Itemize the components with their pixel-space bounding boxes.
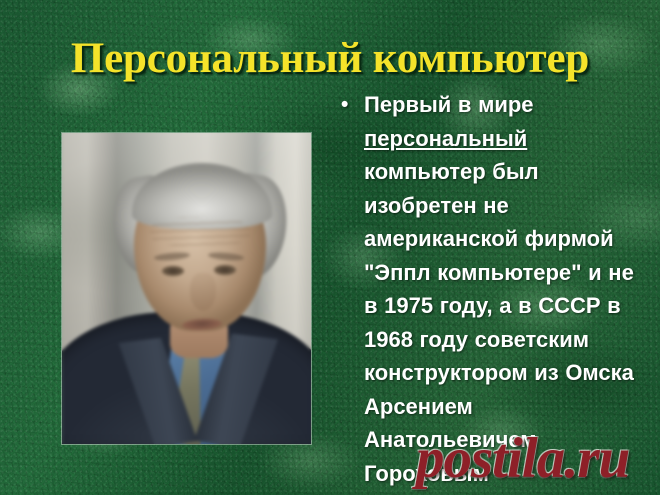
slide-title: Персональный компьютер bbox=[0, 34, 660, 84]
presentation-slide: Персональный компьютер • Первый в мире п… bbox=[0, 0, 660, 495]
photo-softening-overlay bbox=[62, 133, 311, 444]
portrait-photo bbox=[62, 133, 311, 444]
site-watermark: postila.ru bbox=[416, 427, 629, 491]
bullet-marker-icon: • bbox=[337, 88, 364, 122]
